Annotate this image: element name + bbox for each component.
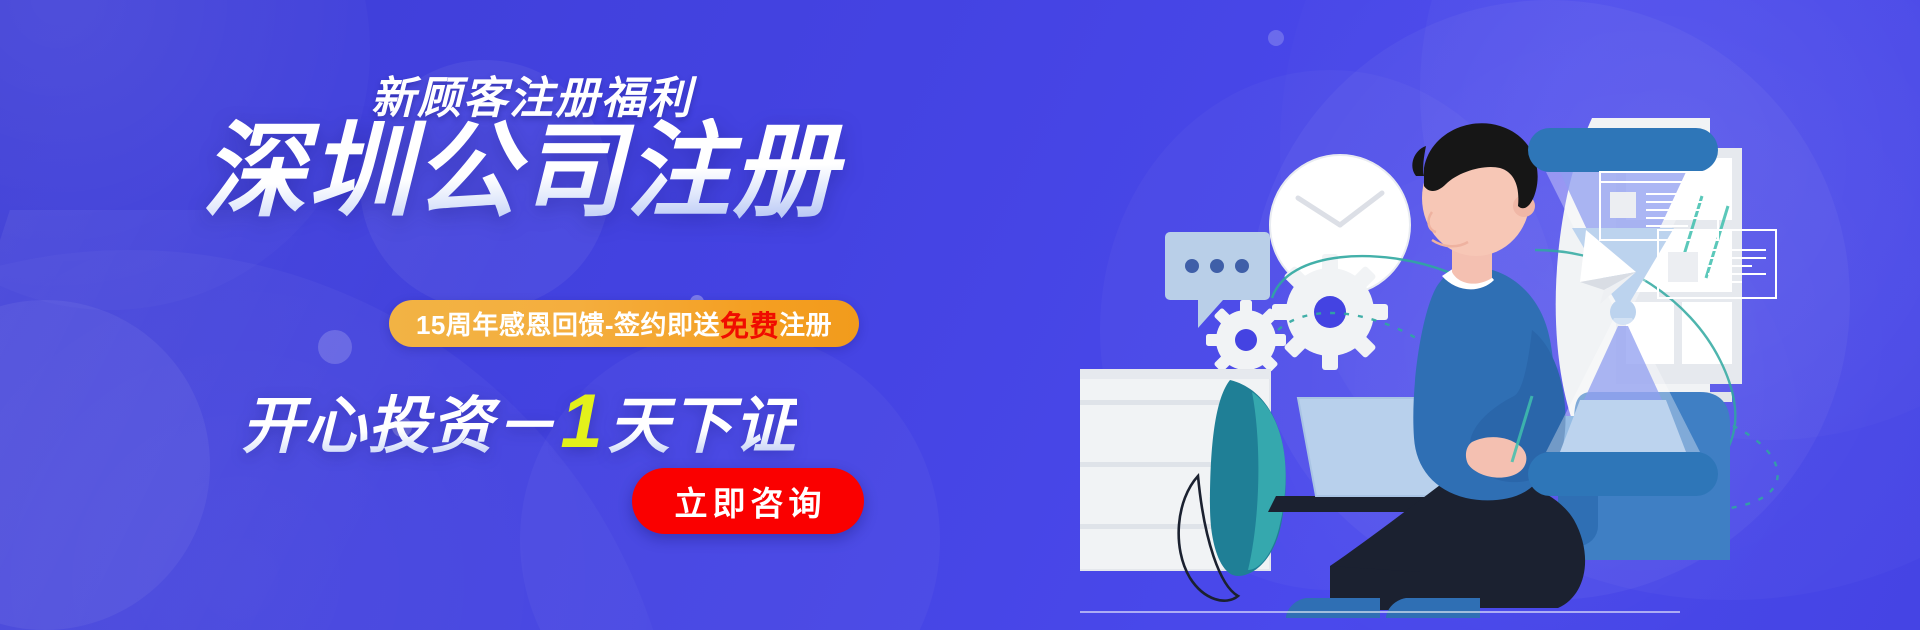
banner-headline: 深圳公司注册 — [0, 118, 1020, 227]
tagline-suffix: 天下证 — [608, 392, 797, 461]
promo-badge-prefix: 15周年感恩回馈-签约即送 — [416, 305, 720, 342]
banner-tagline: 开心投资－1天下证 — [0, 375, 1020, 465]
consult-now-button[interactable]: 立即咨询 — [632, 468, 864, 534]
promo-badge: 15周年感恩回馈-签约即送免费注册 — [389, 300, 859, 347]
promo-badge-highlight: 免费 — [720, 303, 779, 345]
promo-badge-suffix: 注册 — [779, 305, 832, 342]
tagline-prefix: 开心投资－ — [241, 392, 556, 461]
banner-copy: 新顾客注册福利 深圳公司注册 15周年感恩回馈-签约即送免费注册 开心投资－1天… — [0, 0, 1020, 630]
promotional-banner: 新顾客注册福利 深圳公司注册 15周年感恩回馈-签约即送免费注册 开心投资－1天… — [0, 0, 1920, 630]
banner-illustration — [1080, 0, 1920, 630]
tagline-number: 1 — [556, 379, 607, 464]
consult-now-label: 立即咨询 — [670, 477, 827, 525]
